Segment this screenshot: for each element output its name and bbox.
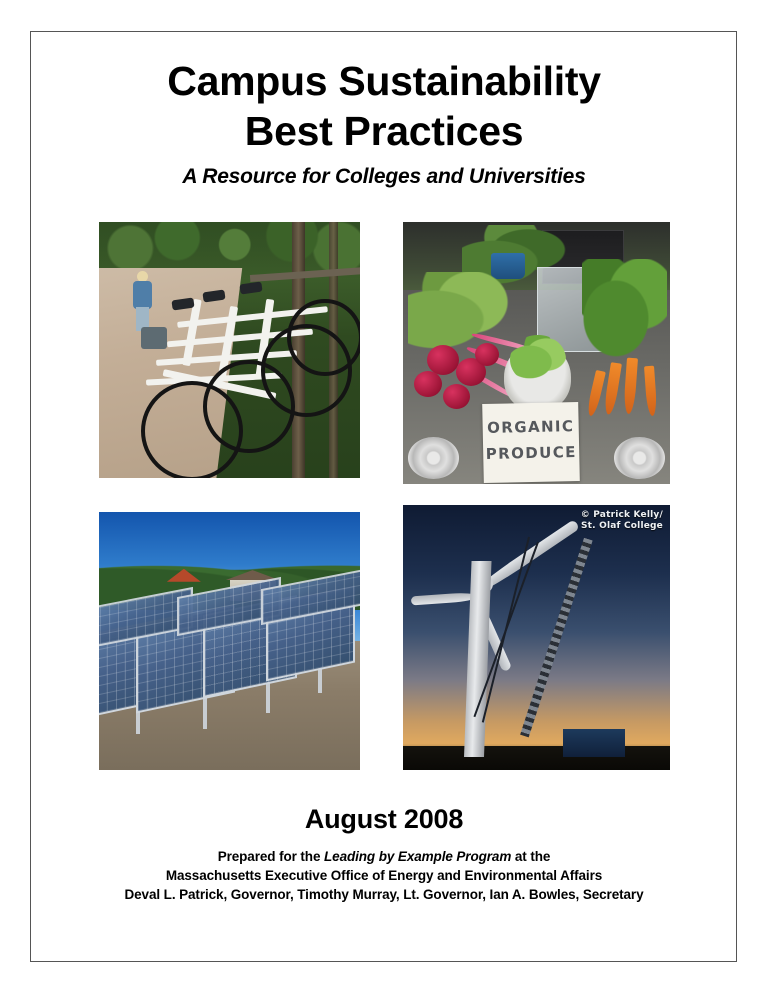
credits-block: Prepared for the Leading by Example Prog… bbox=[50, 847, 718, 904]
title-block: Campus Sustainability Best Practices A R… bbox=[64, 56, 704, 189]
credits-line-2: Massachusetts Executive Office of Energy… bbox=[50, 866, 718, 885]
photo-credit-line-2: St. Olaf College bbox=[581, 521, 663, 532]
turbine-blade bbox=[411, 592, 476, 605]
carrot-tops bbox=[582, 259, 667, 359]
organic-produce-sign: ORGANIC PRODUCE bbox=[482, 402, 580, 483]
bicycle-wheel bbox=[287, 299, 360, 376]
cover-page: Campus Sustainability Best Practices A R… bbox=[0, 0, 768, 994]
sign-line-2: PRODUCE bbox=[483, 443, 579, 463]
photo-produce-artwork: ORGANIC PRODUCE bbox=[403, 222, 670, 484]
dark-horizon bbox=[403, 746, 670, 770]
page-subtitle: A Resource for Colleges and Universities bbox=[64, 165, 704, 189]
decorative-doily bbox=[408, 437, 459, 479]
person-body bbox=[133, 281, 152, 309]
carrot bbox=[623, 358, 638, 415]
photo-organic-produce: ORGANIC PRODUCE bbox=[403, 222, 670, 484]
beet bbox=[475, 343, 499, 366]
credits-line-3: Deval L. Patrick, Governor, Timothy Murr… bbox=[50, 885, 718, 904]
person-walking bbox=[130, 271, 156, 331]
beet-greens bbox=[408, 272, 515, 358]
page-title-line-2: Best Practices bbox=[64, 106, 704, 156]
carrot bbox=[644, 366, 657, 417]
photo-credit-line-1: © Patrick Kelly/ bbox=[581, 510, 663, 521]
photo-bicycles-artwork bbox=[99, 222, 360, 478]
crane-base bbox=[563, 729, 625, 757]
photo-solar-array bbox=[99, 512, 360, 770]
photo-bicycles bbox=[99, 222, 360, 478]
photo-solar-artwork bbox=[99, 512, 360, 770]
carrot bbox=[603, 363, 622, 416]
photo-wind-turbine: © Patrick Kelly/ St. Olaf College bbox=[403, 505, 670, 770]
credits-suffix: at the bbox=[511, 849, 550, 864]
decorative-doily bbox=[614, 437, 665, 479]
program-name: Leading by Example Program bbox=[324, 849, 511, 864]
person-head bbox=[137, 271, 148, 282]
photo-wind-artwork: © Patrick Kelly/ St. Olaf College bbox=[403, 505, 670, 770]
sign-line-1: ORGANIC bbox=[483, 417, 579, 437]
turbine-tower bbox=[464, 561, 492, 757]
beet bbox=[443, 384, 470, 409]
page-title-line-1: Campus Sustainability bbox=[64, 56, 704, 106]
cover-photo-grid: ORGANIC PRODUCE bbox=[99, 222, 670, 770]
carrot bbox=[586, 370, 606, 417]
crane-boom bbox=[521, 538, 593, 737]
photo-credit: © Patrick Kelly/ St. Olaf College bbox=[581, 510, 663, 532]
lettuce-leaves bbox=[510, 335, 566, 385]
bicycle-basket bbox=[141, 327, 167, 349]
credits-line-1: Prepared for the Leading by Example Prog… bbox=[50, 847, 718, 866]
publication-date: August 2008 bbox=[64, 804, 704, 835]
credits-prefix: Prepared for the bbox=[218, 849, 324, 864]
beet bbox=[414, 371, 442, 397]
